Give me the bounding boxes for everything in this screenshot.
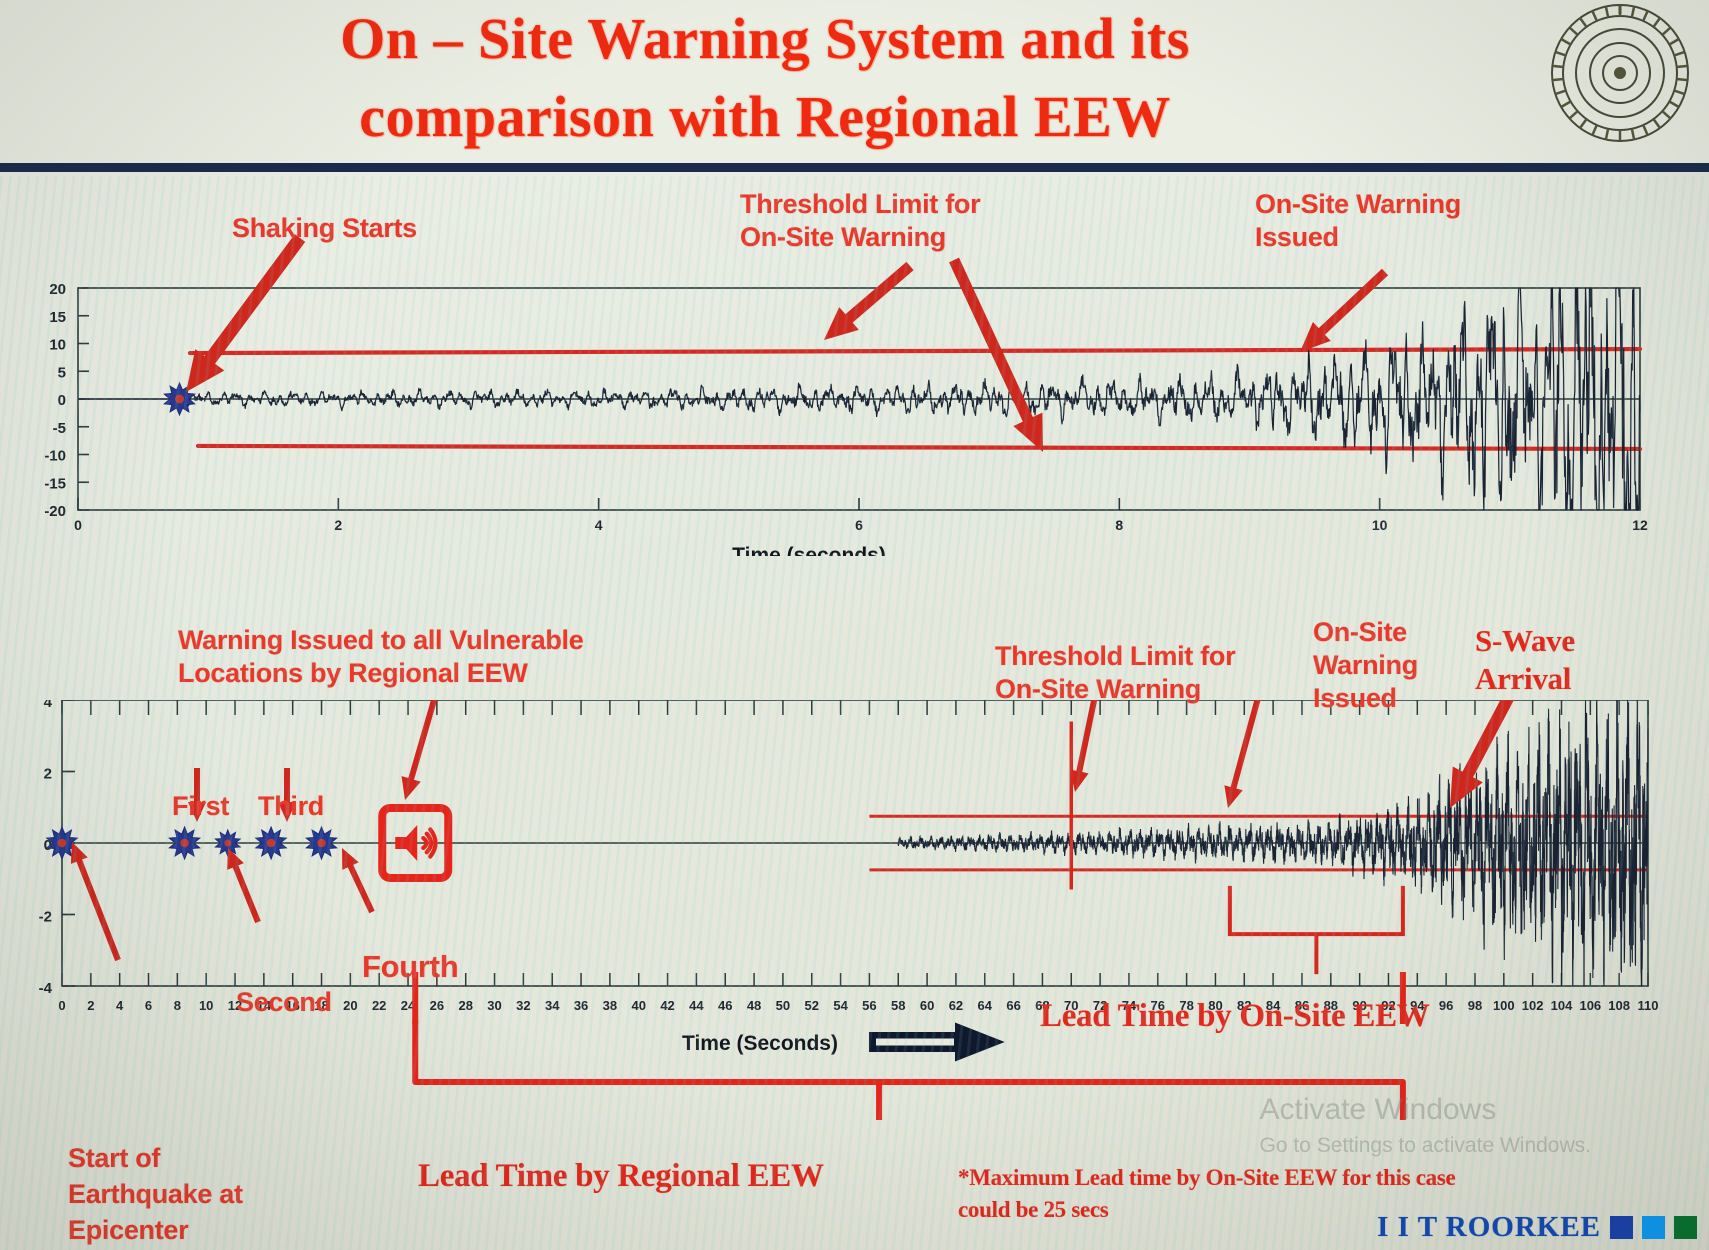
svg-text:8: 8 [1115,517,1123,533]
brand-square-2 [1642,1216,1665,1239]
page-title: On – Site Warning System and its compari… [150,0,1380,156]
svg-text:110: 110 [1638,998,1659,1013]
annotation-fourth: Fourth [362,950,542,983]
svg-text:12: 12 [1632,517,1648,533]
annotation-threshold-limit-top: Threshold Limit for On-Site Warning [740,188,1070,254]
annotation-warning-issued-regional: Warning Issued to all Vulnerable Locatio… [178,624,718,690]
annotation-onsite-warning-issued-bottom: On-Site Warning Issued [1313,616,1463,715]
svg-text:20: 20 [49,281,66,298]
svg-text:15: 15 [49,309,66,326]
svg-text:36: 36 [574,998,588,1013]
svg-text:-2: -2 [39,909,52,926]
svg-text:108: 108 [1608,998,1630,1013]
annotation-start-of-earthquake: Start of Earthquake at Epicenter [68,1140,328,1248]
svg-text:4: 4 [595,517,603,533]
annotation-third: Third [258,790,378,823]
svg-text:64: 64 [978,998,993,1013]
iit-roorkee-seal-icon [1549,2,1691,144]
brand-square-1 [1610,1216,1633,1239]
svg-text:10: 10 [199,998,213,1013]
watermark-line-2: Go to Settings to activate Windows. [1260,1128,1592,1164]
svg-text:28: 28 [458,998,472,1013]
page-title-line-1: On – Site Warning System and its [150,0,1380,78]
svg-text:52: 52 [805,998,819,1013]
svg-text:6: 6 [855,517,863,533]
svg-text:106: 106 [1579,998,1601,1013]
annotation-second: Second [236,986,416,1019]
bottom-regional-vs-onsite-chart: -4-2024024681012141618202224262830323436… [0,700,1709,1120]
svg-text:32: 32 [516,998,530,1013]
svg-text:2: 2 [44,766,52,783]
svg-text:48: 48 [747,998,761,1013]
watermark-line-1: Activate Windows [1260,1092,1592,1128]
svg-text:Time (Seconds): Time (Seconds) [682,1032,838,1055]
svg-text:54: 54 [833,998,848,1013]
annotation-lead-time-onsite: Lead Time by On-Site EEW [1040,1000,1560,1033]
svg-text:6: 6 [145,998,152,1013]
brand-square-3 [1674,1216,1697,1239]
svg-text:2: 2 [334,517,342,533]
activate-windows-watermark: Activate Windows Go to Settings to activ… [1260,1092,1592,1164]
slide-root: On – Site Warning System and its compari… [0,0,1709,1250]
svg-text:60: 60 [920,998,934,1013]
page-title-line-2: comparison with Regional EEW [150,78,1380,156]
footer-brand-text: I I T ROORKEE [1377,1211,1601,1244]
annotation-onsite-warning-issued-top: On-Site Warning Issued [1255,188,1585,254]
svg-text:34: 34 [545,998,560,1013]
annotation-threshold-limit-bottom: Threshold Limit for On-Site Warning [995,640,1295,706]
svg-text:10: 10 [1372,517,1388,533]
svg-text:Time (seconds): Time (seconds) [732,544,886,556]
slide-header: On – Site Warning System and its compari… [0,0,1709,172]
svg-text:56: 56 [862,998,876,1013]
svg-text:5: 5 [58,364,66,381]
svg-text:30: 30 [487,998,501,1013]
svg-text:0: 0 [74,517,82,533]
svg-text:46: 46 [718,998,732,1013]
svg-text:-15: -15 [44,475,66,492]
svg-text:50: 50 [776,998,790,1013]
annotation-s-wave-arrival: S-Wave Arrival [1475,622,1665,698]
svg-text:8: 8 [174,998,181,1013]
svg-text:44: 44 [689,998,704,1013]
svg-text:26: 26 [430,998,444,1013]
svg-text:4: 4 [116,998,124,1013]
svg-text:66: 66 [1006,998,1020,1013]
svg-text:-4: -4 [39,980,53,997]
svg-text:-5: -5 [53,420,66,437]
svg-text:4: 4 [44,700,53,711]
svg-text:10: 10 [49,337,66,354]
svg-text:-10: -10 [44,448,66,465]
svg-text:58: 58 [891,998,905,1013]
svg-text:2: 2 [87,998,94,1013]
annotation-shaking-starts: Shaking Starts [232,212,562,245]
svg-text:0: 0 [58,998,65,1013]
svg-text:0: 0 [58,392,66,409]
svg-text:-20: -20 [44,503,66,520]
svg-text:40: 40 [631,998,645,1013]
svg-text:62: 62 [949,998,963,1013]
footer-brand: I I T ROORKEE [1377,1211,1697,1244]
svg-text:42: 42 [660,998,674,1013]
svg-text:38: 38 [603,998,617,1013]
annotation-lead-time-regional: Lead Time by Regional EEW [418,1160,938,1193]
